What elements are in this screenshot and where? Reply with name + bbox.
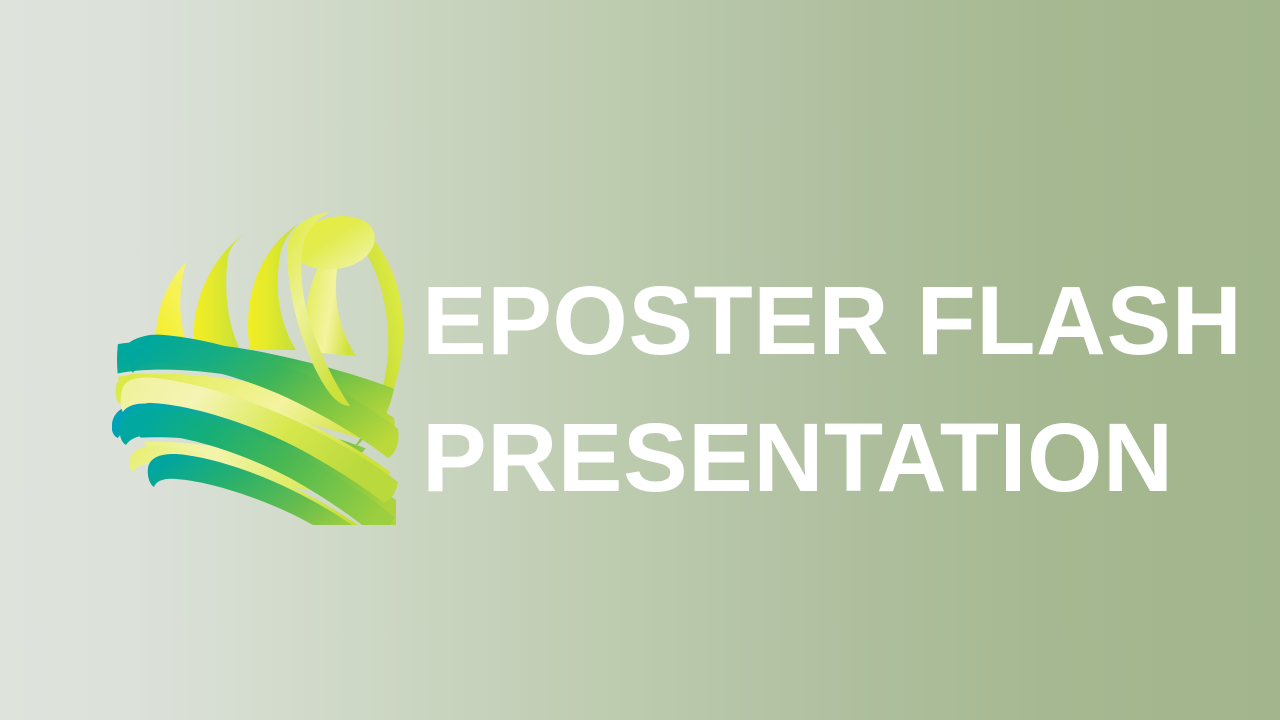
headline-line-2: PRESENTATION: [422, 389, 1222, 526]
headline-line-1: EPOSTER FLASH: [422, 252, 1222, 389]
ribbon-band-1: [193, 234, 244, 350]
slide-canvas: EPOSTER FLASH PRESENTATION: [0, 0, 1280, 720]
globe-ribbon-logo-svg: [112, 200, 412, 525]
globe-ribbon-logo: [112, 200, 412, 525]
page-title: EPOSTER FLASH PRESENTATION: [422, 252, 1222, 526]
